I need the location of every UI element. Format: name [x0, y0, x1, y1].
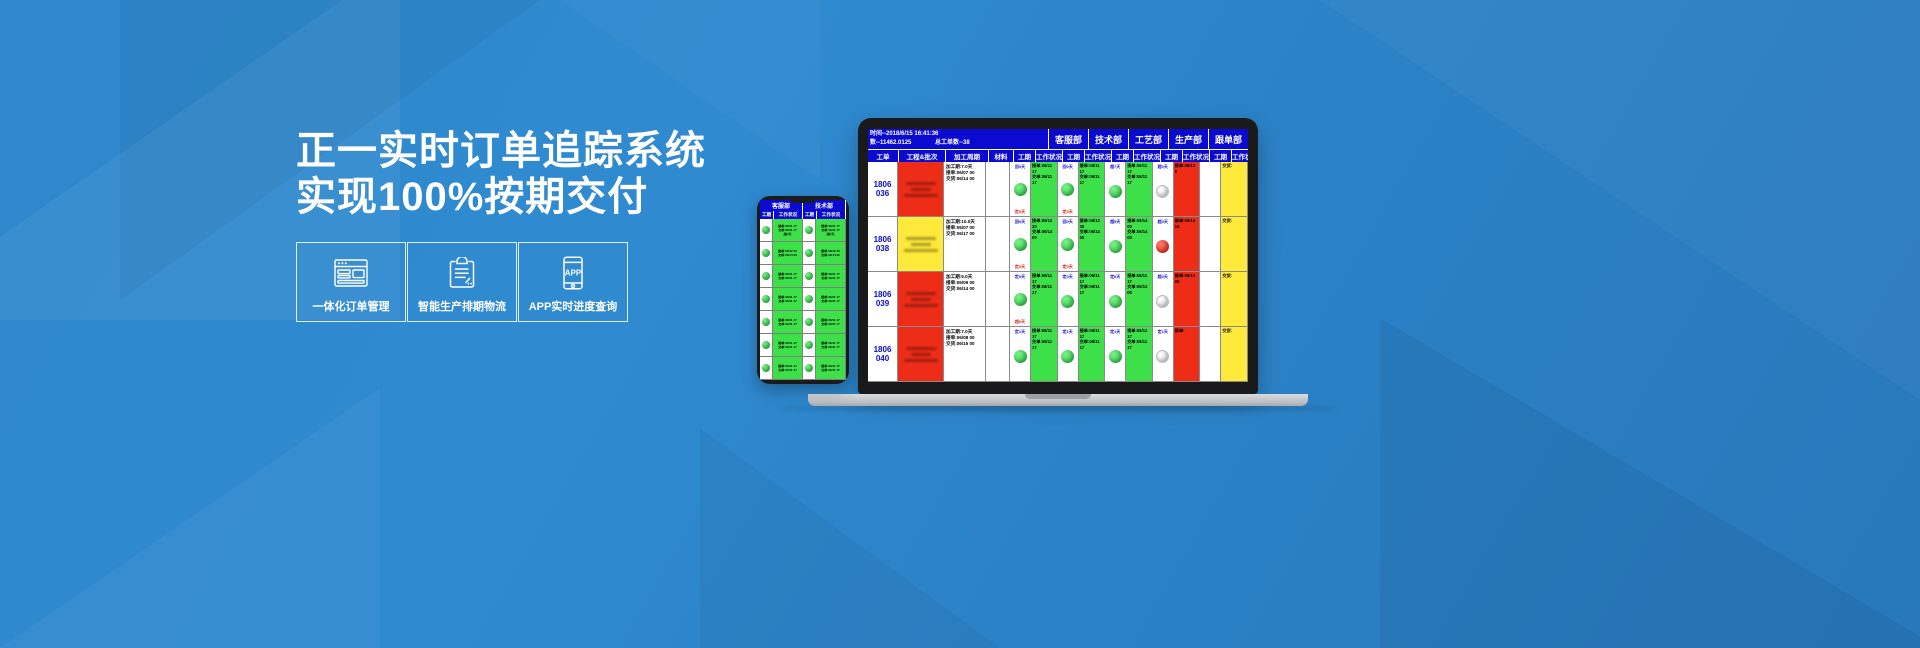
project-batch-cell — [898, 162, 944, 216]
work-status-cell-3: 接单:06/13 0 — [1174, 162, 1201, 216]
table-row[interactable]: 1806 038加工期:10.0天接单:06/07 00交货:06/17 00回… — [868, 217, 1248, 272]
work-status-cell-2: 接单:06/11 17交单:06/11 17 — [1126, 327, 1153, 381]
work-order-cell: 1806 036 — [868, 162, 898, 216]
feature-card-order-management[interactable]: 一体化订单管理 — [296, 242, 406, 322]
duration-cell-0: 定1天 — [1010, 327, 1031, 381]
phone-status-cell: 接单:06/11 17交单:06/11 17 — [773, 311, 803, 333]
status-indicator-green — [1014, 293, 1027, 306]
phone-status-line: 交单:06/11 17 — [821, 322, 840, 326]
status-line: 交单:06/11 17 — [1080, 339, 1104, 350]
dashboard-row-list: 1806 036加工期:7.0天接单:06/07 00交货:06/14 00回0… — [868, 162, 1248, 382]
phone-screen: 客服部 技术部 工期 工作状况 工期 工作状况 接单:06/11 17交单:06… — [760, 200, 846, 380]
status-line: 接单:06/11 17 — [1127, 163, 1151, 174]
duration-tag-bottom: 定0天 — [1062, 209, 1072, 214]
material-cell — [986, 272, 1010, 326]
work-status-cell-0: 接单:06/12 20交单:06/14 00 — [1031, 217, 1058, 271]
status-line: 交单:06/11 17 — [1080, 174, 1104, 185]
phone-status-cell: 接单:06/11 17交单:06/11 17 — [773, 288, 803, 310]
work-status-cell-1: 接单:06/11 17交单:06/11 17 — [1079, 272, 1106, 326]
feature-label: 一体化订单管理 — [313, 298, 390, 314]
project-batch-cell — [898, 272, 944, 326]
status-line: 接单:06/11 17 — [1127, 273, 1151, 284]
phone-status-line: 超0天 — [784, 232, 792, 236]
column-header-6: 工期 — [1063, 150, 1085, 162]
duration-cell-2: 定0天 — [1105, 272, 1126, 326]
work-status-cell-0: 接单:06/11 17交单:06/11 17 — [1031, 327, 1058, 381]
duration-tag-top: 定1天 — [1062, 329, 1072, 334]
phone-status-line: 交单:06/11 17 — [778, 345, 797, 349]
duration-tag-top: 回0天 — [1015, 164, 1025, 169]
phone-row-list: 接单:06/11 17交单:06/11 17超0天接单:06/11 17交单:0… — [760, 219, 846, 380]
laptop-mockup: 时间--2018/6/15 16:41:36 数--11462.0125 总工单… — [858, 118, 1338, 411]
duration-cell-0: 定0天超0天 — [1010, 272, 1031, 326]
phone-col-0: 工期 — [760, 211, 774, 219]
processing-cycle-cell: 加工期:10.0天接单:06/07 00交货:06/17 00 — [944, 217, 986, 271]
column-header-4: 工期 — [1014, 150, 1036, 162]
status-line: 交货: — [1222, 218, 1246, 224]
work-status-cell-3: 接单:06/14 14 — [1174, 217, 1201, 271]
column-header-2: 加工周期 — [946, 150, 989, 162]
work-status-cell-1: 接单:06/11 17交单:06/11 17 — [1079, 162, 1106, 216]
phone-status-line: 交单:06/11 17 — [778, 299, 797, 303]
duration-cell-4 — [1200, 272, 1221, 326]
dashboard-counts: 数--11462.0125 总工单数--38 — [870, 139, 1046, 148]
dashboard-column-header: 工单工程&批次加工周期材料工期工作状况工期工作状况工期工作状况工期工作状况工期工… — [868, 149, 1248, 162]
phone-status-indicator — [760, 242, 773, 264]
phone-table-row[interactable]: 接单:06/11 17交单:06/11 17超0天接单:06/11 17交单:0… — [760, 219, 846, 242]
duration-tag-bottom: 超0天 — [1015, 319, 1025, 324]
duration-tag-bottom: 定0天 — [1015, 264, 1025, 269]
phone-status-indicator — [803, 242, 816, 264]
status-indicator-green — [1109, 240, 1122, 253]
phone-table-row[interactable]: 接单:06/11 17交单:06/11 17接单:06/11 17交单:06/1… — [760, 311, 846, 334]
phone-status-line: 交单:06/11 17 — [821, 299, 840, 303]
duration-tag-top: 超7天 — [1110, 164, 1120, 169]
status-line: 接单:06/11 17 — [1032, 273, 1056, 284]
feature-list: 一体化订单管理 智能生产排期物流 — [296, 242, 716, 322]
phone-status-indicator — [803, 334, 816, 356]
status-line: 交单:06/14 00 — [1032, 229, 1056, 240]
work-status-cell-4: 交货: — [1221, 272, 1248, 326]
dept-header-3: 生产部 — [1168, 129, 1208, 149]
work-status-cell-1: 接单:06/11 17交单:06/11 17 — [1079, 327, 1106, 381]
phone-status-line: 交单:06/11 17 — [821, 368, 840, 372]
phone-status-line: 交单:06/11 17 — [778, 368, 797, 372]
column-header-0: 工单 — [868, 150, 899, 162]
duration-tag-bottom: 定0天 — [1015, 209, 1025, 214]
phone-status-line: 交单:06/14 00 — [778, 253, 797, 257]
phone-status-indicator — [760, 334, 773, 356]
status-line: 交货: — [1222, 273, 1246, 279]
headline-line-1: 正一实时订单追踪系统 — [296, 128, 716, 174]
cycle-line: 交货:06/14 00 — [946, 176, 983, 182]
phone-status-cell: 接单:06/12 20交单:06/14 00 — [773, 242, 803, 264]
phone-table-row[interactable]: 接单:06/11 17交单:06/11 17接单:06/11 17交单:06/1… — [760, 334, 846, 357]
status-indicator-green — [1109, 350, 1122, 363]
duration-tag-top: 超0天 — [1158, 164, 1168, 169]
order-tracking-dashboard: 时间--2018/6/15 16:41:36 数--11462.0125 总工单… — [868, 129, 1248, 382]
phone-status-indicator — [803, 288, 816, 310]
column-header-7: 工作状况 — [1085, 150, 1112, 162]
laptop-lid: 时间--2018/6/15 16:41:36 数--11462.0125 总工单… — [858, 118, 1258, 394]
cycle-line: 交货:06/17 00 — [946, 231, 983, 237]
duration-tag-top: 定1天 — [1110, 329, 1120, 334]
status-line: 接单: — [1175, 328, 1199, 334]
status-line: 交单:06/11 17 — [1127, 174, 1151, 185]
feature-label: 智能生产排期物流 — [418, 298, 506, 314]
duration-cell-0: 回0天定0天 — [1010, 217, 1031, 271]
duration-tag-top: 定0天 — [1015, 274, 1025, 279]
dashboard-header: 时间--2018/6/15 16:41:36 数--11462.0125 总工单… — [868, 129, 1248, 149]
phone-column-header: 工期 工作状况 工期 工作状况 — [760, 211, 846, 219]
phone-col-1: 工作状况 — [774, 211, 803, 219]
duration-tag-top: 定0天 — [1110, 274, 1120, 279]
duration-tag-top: 超0天 — [1158, 219, 1168, 224]
cycle-line: 交货:06/15 00 — [946, 341, 983, 347]
phone-status-line: 交单:06/14 00 — [821, 253, 840, 257]
processing-cycle-cell: 加工期:7.0天接单:06/07 00交货:06/14 00 — [944, 162, 986, 216]
page-title: 正一实时订单追踪系统 实现100%按期交付 — [296, 128, 716, 220]
status-indicator-green — [1014, 183, 1027, 196]
table-row[interactable]: 1806 040加工期:7.0天接单:06/08 00交货:06/15 00定1… — [868, 327, 1248, 382]
dept-header-4: 跟单部 — [1208, 129, 1248, 149]
status-line: 交单:06/12 09 — [1127, 284, 1151, 295]
phone-status-line: 交单:06/11 17 — [778, 322, 797, 326]
status-indicator-green — [1014, 350, 1027, 363]
status-indicator-green — [1109, 185, 1122, 198]
phone-status-line: 交单:06/11 17 — [778, 276, 797, 280]
phone-status-cell: 接单:06/11 17交单:06/11 17 — [816, 334, 846, 356]
phone-mockup: 客服部 技术部 工期 工作状况 工期 工作状况 接单:06/11 17交单:06… — [757, 196, 849, 384]
status-indicator-green — [1109, 295, 1122, 308]
mobile-app-icon: APP — [561, 255, 585, 291]
phone-status-cell: 接单:06/11 17交单:06/11 17 — [773, 334, 803, 356]
phone-status-indicator — [803, 357, 816, 379]
status-indicator-green — [1061, 295, 1074, 308]
duration-tag-top: 定1天 — [1015, 329, 1025, 334]
dashboard-window-icon — [334, 255, 368, 291]
status-line: 接单:06/11 17 — [1080, 163, 1104, 174]
status-line: 接单:06/11 17 — [1080, 328, 1104, 339]
feature-card-app-tracking[interactable]: APP APP实时进度查询 — [518, 242, 628, 322]
status-line: 交单:06/14 00 — [1127, 229, 1151, 240]
status-line: 接单:06/12 09 — [1175, 273, 1199, 284]
phone-status-cell: 接单:06/11 17交单:06/11 17 — [773, 357, 803, 379]
phone-status-indicator — [803, 311, 816, 333]
status-line: 接单:06/13 0 — [1175, 163, 1199, 174]
status-line: 交货: — [1222, 163, 1246, 169]
duration-tag-top: 定0天 — [1062, 274, 1072, 279]
table-row[interactable]: 1806 039加工期:5.0天接单:06/09 00交货:06/14 00定0… — [868, 272, 1248, 327]
phone-status-line: 交单:06/11 17 — [821, 345, 840, 349]
duration-cell-4 — [1200, 217, 1221, 271]
status-line: 接单:06/11 17 — [1032, 163, 1056, 174]
status-line: 接单:06/12 20 — [1080, 218, 1104, 229]
phone-status-indicator — [760, 311, 773, 333]
status-line: 交单:06/11 17 — [1127, 339, 1151, 350]
phone-status-indicator — [760, 288, 773, 310]
duration-tag-bottom: 定0天 — [1062, 264, 1072, 269]
column-header-1: 工程&批次 — [899, 150, 946, 162]
work-order-cell: 1806 039 — [868, 272, 898, 326]
duration-tag-top: 回0天 — [1015, 219, 1025, 224]
phone-status-cell: 接单:06/11 17交单:06/11 17 — [816, 265, 846, 287]
duration-cell-2: 定1天 — [1105, 327, 1126, 381]
status-line: 交单:06/11 17 — [1080, 284, 1104, 295]
status-line: 接单:06/14 14 — [1175, 218, 1199, 229]
work-status-cell-4: 交货: — [1221, 217, 1248, 271]
laptop-shadow — [778, 406, 1338, 411]
dept-header-2: 工艺部 — [1128, 129, 1168, 149]
work-status-cell-0: 接单:06/11 17交单:06/11 17 — [1031, 272, 1058, 326]
duration-cell-4 — [1200, 162, 1221, 216]
duration-cell-3: 超0天 — [1153, 217, 1174, 271]
cycle-line: 交货:06/14 00 — [946, 286, 983, 292]
column-header-3: 材料 — [989, 150, 1014, 162]
phone-status-cell: 接单:06/11 17交单:06/11 17 — [773, 265, 803, 287]
phone-status-indicator — [803, 219, 816, 241]
work-status-cell-2: 接单:06/11 17交单:06/12 09 — [1126, 272, 1153, 326]
app-badge-text: APP — [565, 269, 582, 278]
phone-status-cell: 接单:06/11 17交单:06/11 17 — [816, 288, 846, 310]
duration-cell-1: 回0天定0天 — [1058, 217, 1079, 271]
phone-status-indicator — [760, 357, 773, 379]
status-line: 接单:06/11 17 — [1032, 328, 1056, 339]
duration-tag-top: 定1天 — [1158, 329, 1168, 334]
phone-status-cell: 接单:06/11 17交单:06/11 17超0天 — [773, 219, 803, 241]
material-cell — [986, 162, 1010, 216]
work-status-cell-3: 接单: — [1174, 327, 1201, 381]
status-line: 接单:06/11 17 — [1127, 328, 1151, 339]
status-indicator-white — [1156, 295, 1169, 308]
duration-cell-3: 超0天 — [1153, 162, 1174, 216]
work-status-cell-0: 接单:06/11 17交单:06/11 17 — [1031, 162, 1058, 216]
laptop-screen: 时间--2018/6/15 16:41:36 数--11462.0125 总工单… — [868, 129, 1248, 382]
feature-card-production-scheduling[interactable]: 智能生产排期物流 — [407, 242, 517, 322]
headline-line-2: 实现100%按期交付 — [296, 174, 716, 220]
dashboard-total-orders: 总工单数--38 — [935, 140, 970, 146]
work-status-cell-3: 接单:06/12 09 — [1174, 272, 1201, 326]
status-indicator-green — [1061, 238, 1074, 251]
phone-status-line: 超0天 — [827, 232, 835, 236]
phone-table-row[interactable]: 接单:06/11 17交单:06/11 17接单:06/11 17交单:06/1… — [760, 265, 846, 288]
duration-cell-0: 回0天定0天 — [1010, 162, 1031, 216]
dept-header-0: 客服部 — [1048, 129, 1088, 149]
laptop-base — [808, 394, 1308, 406]
duration-cell-1: 定0天 — [1058, 272, 1079, 326]
column-header-13: 工作状况 — [1232, 150, 1248, 162]
status-line: 交单:06/11 17 — [1032, 339, 1056, 350]
phone-status-indicator — [803, 265, 816, 287]
project-batch-cell — [898, 327, 944, 381]
column-header-5: 工作状况 — [1036, 150, 1063, 162]
column-header-8: 工期 — [1112, 150, 1134, 162]
material-cell — [986, 217, 1010, 271]
dept-header-1: 技术部 — [1088, 129, 1128, 149]
processing-cycle-cell: 加工期:5.0天接单:06/09 00交货:06/14 00 — [944, 272, 986, 326]
hero-banner: 正一实时订单追踪系统 实现100%按期交付 — [0, 0, 1920, 648]
status-line: 交单:06/14 00 — [1080, 229, 1104, 240]
phone-table-row[interactable]: 接单:06/11 17交单:06/11 17接单:06/11 17交单:06/1… — [760, 357, 846, 380]
status-indicator-white — [1156, 350, 1169, 363]
dashboard-time: 时间--2018/6/15 16:41:36 — [870, 130, 1046, 139]
status-line: 接单:06/14 00 — [1127, 218, 1151, 229]
feature-label: APP实时进度查询 — [529, 298, 618, 314]
duration-cell-4 — [1200, 327, 1221, 381]
phone-status-cell: 接单:06/12 20交单:06/14 00 — [816, 242, 846, 264]
phone-col-3: 工作状况 — [817, 211, 846, 219]
duration-cell-3: 定1天 — [1153, 327, 1174, 381]
duration-cell-2: 超7天 — [1105, 162, 1126, 216]
work-status-cell-2: 接单:06/11 17交单:06/11 17 — [1126, 162, 1153, 216]
work-order-cell: 1806 038 — [868, 217, 898, 271]
work-status-cell-1: 接单:06/12 20交单:06/14 00 — [1079, 217, 1106, 271]
phone-table-row[interactable]: 接单:06/12 20交单:06/14 00接单:06/12 20交单:06/1… — [760, 242, 846, 265]
duration-tag-top: 超5天 — [1110, 219, 1120, 224]
work-status-cell-4: 交货: — [1221, 162, 1248, 216]
dashboard-meta: 时间--2018/6/15 16:41:36 数--11462.0125 总工单… — [868, 129, 1048, 149]
phone-status-cell: 接单:06/11 17交单:06/11 17超0天 — [816, 219, 846, 241]
table-row[interactable]: 1806 036加工期:7.0天接单:06/07 00交货:06/14 00回0… — [868, 162, 1248, 217]
status-line: 接单:06/11 17 — [1080, 273, 1104, 284]
hero-copy: 正一实时订单追踪系统 实现100%按期交付 — [296, 128, 716, 322]
duration-tag-top: 超0天 — [1158, 274, 1168, 279]
status-indicator-green — [1014, 238, 1027, 251]
duration-tag-top: 回0天 — [1062, 164, 1072, 169]
dashboard-count-value: 数--11462.0125 — [870, 140, 911, 146]
project-batch-cell — [898, 217, 944, 271]
work-status-cell-2: 接单:06/14 00交单:06/14 00 — [1126, 217, 1153, 271]
phone-status-cell: 接单:06/11 17交单:06/11 17 — [816, 311, 846, 333]
status-line: 交单:06/11 17 — [1032, 284, 1056, 295]
status-indicator-red — [1156, 240, 1169, 253]
duration-cell-3: 超0天 — [1153, 272, 1174, 326]
status-line: 交货: — [1222, 328, 1246, 334]
work-status-cell-4: 交货: — [1221, 327, 1248, 381]
phone-status-cell: 接单:06/11 17交单:06/11 17 — [816, 357, 846, 379]
phone-notch — [790, 199, 816, 203]
column-header-11: 工作状况 — [1183, 150, 1210, 162]
phone-status-line: 交单:06/11 17 — [821, 276, 840, 280]
column-header-12: 工期 — [1210, 150, 1232, 162]
status-indicator-green — [1061, 183, 1074, 196]
work-order-cell: 1806 040 — [868, 327, 898, 381]
status-line: 接单:06/12 20 — [1032, 218, 1056, 229]
phone-status-indicator — [760, 265, 773, 287]
duration-cell-1: 回0天定0天 — [1058, 162, 1079, 216]
processing-cycle-cell: 加工期:7.0天接单:06/08 00交货:06/15 00 — [944, 327, 986, 381]
status-line: 交单:06/11 17 — [1032, 174, 1056, 185]
phone-table-row[interactable]: 接单:06/11 17交单:06/11 17接单:06/11 17交单:06/1… — [760, 288, 846, 311]
column-header-10: 工期 — [1161, 150, 1183, 162]
clipboard-schedule-icon — [448, 255, 476, 291]
status-indicator-white — [1156, 185, 1169, 198]
duration-tag-top: 回0天 — [1062, 219, 1072, 224]
phone-col-2: 工期 — [803, 211, 817, 219]
column-header-9: 工作状况 — [1134, 150, 1161, 162]
phone-status-indicator — [760, 219, 773, 241]
material-cell — [986, 327, 1010, 381]
status-indicator-green — [1061, 350, 1074, 363]
duration-cell-1: 定1天 — [1058, 327, 1079, 381]
duration-cell-2: 超5天 — [1105, 217, 1126, 271]
